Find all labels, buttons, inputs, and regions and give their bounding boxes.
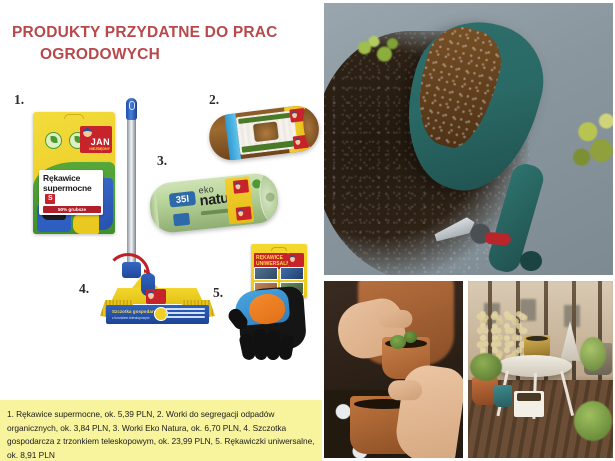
page-title-line-1: PRODUKTY PRZYDATNE DO PRAC [12,24,278,41]
caption-band: 1. Rękawice supermocne, ok. 5,39 PLN, 2.… [0,400,322,461]
brand-logo-jan [236,206,252,220]
package-claim: 50% grubsze [43,206,101,213]
jan-face-icon [83,128,92,137]
glove-card-photo [254,267,278,280]
product-image-rekawiczki-uniwersalne: RĘKAWICE UNIWERSALNE [229,244,311,360]
photo-hands-repotting [324,281,463,458]
glove-finger [278,334,295,361]
package-label: Rękawice supermocneS 50% grubsze [39,170,103,215]
succulent-plant [563,103,613,185]
brand-logo-jan [288,253,304,267]
photo-yellow-glove [73,212,99,234]
photo-garden-scoop [324,3,613,275]
potted-plant [580,337,606,371]
product-image-worki-organiczne [207,103,322,162]
products-panel: PRODUKTY PRZYDATNE DO PRAC OGRODOWYCH 1.… [0,0,322,461]
photo-balcony-garden [468,281,613,458]
roll-end-cap [257,171,280,223]
product-marker-4: 4. [79,281,89,297]
package-product-name-text: Rękawice supermocne [43,173,92,193]
handle-grip [126,98,137,120]
size-badge: S [45,194,55,204]
hang-hole-icon [271,247,287,251]
product-image-szczotka-gospodarcza: Szczotka gospodarcza z trzonkiem telesko… [100,112,215,302]
roll-print-panel [236,110,298,155]
caption-text: 1. Rękawice supermocne, ok. 5,39 PLN, 2.… [7,408,315,461]
roll-print-subline [242,140,296,153]
product-marker-1: 1. [14,92,24,108]
moss-clump [346,31,408,73]
broom-head: Szczotka gospodarcza z trzonkiem telesko… [100,272,215,330]
telescopic-handle [127,112,136,264]
poster-root: PRODUKTY PRZYDATNE DO PRAC OGRODOWYCH 1.… [0,0,615,461]
potted-plant [574,401,612,441]
potted-plant [470,353,502,381]
brand-logo-jan [233,179,249,193]
shears-grip [484,232,511,246]
glove-card-photo [280,267,304,280]
brand-logo-jan [146,289,166,304]
cactus-plant [404,331,417,343]
glove-finger [253,329,268,361]
glove-pair [229,288,311,360]
page-title-line-2: OGRODOWYCH [12,44,312,66]
white-planter-box [514,391,544,417]
product-marker-2: 2. [209,92,219,108]
roll-print-photo [253,121,279,142]
eco-badge-icon [45,132,62,149]
teal-pot [494,385,512,407]
scoop-handle-tip [520,251,542,271]
broom-label-band: Szczotka gospodarcza z trzonkiem telesko… [106,305,209,324]
broom-label-bullets [165,308,205,321]
package-product-name: Rękawice supermocneS [43,173,101,204]
hang-hole-icon [64,114,84,119]
bag-roll-brown [207,103,322,162]
page-title: PRODUKTY PRZYDATNE DO PRAC OGRODOWYCH [12,22,312,67]
broom-label-sub: z trzonkiem teleskopowym [112,316,149,320]
